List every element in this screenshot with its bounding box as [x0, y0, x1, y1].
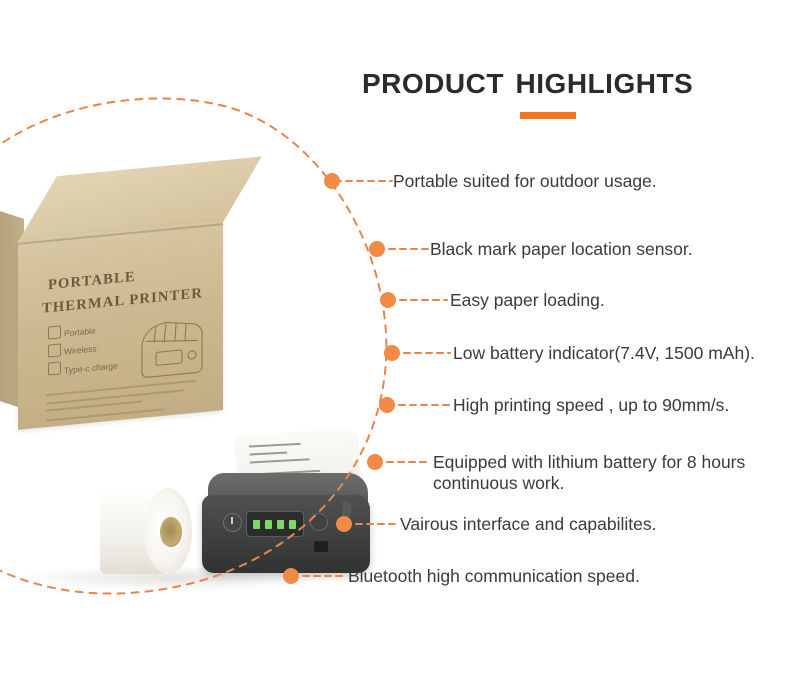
thermal-paper-roll	[100, 488, 192, 574]
title-block: Product Highlights	[362, 58, 782, 102]
portable-thermal-printer	[196, 433, 376, 583]
highlight-item-print-speed: High printing speed , up to 90mm/s.	[453, 395, 729, 416]
printer-line-art	[132, 309, 210, 387]
usb-c-port	[314, 541, 328, 552]
usb-c-icon	[48, 361, 61, 375]
product-photo: PORTABLE THERMAL PRINTER Portable Wirele…	[0, 95, 400, 565]
highlight-item-paper-loading: Easy paper loading.	[450, 290, 605, 311]
status-led-panel	[246, 511, 304, 537]
highlight-item-lithium-battery: Equipped with lithium battery for 8 hour…	[433, 452, 745, 494]
portable-icon	[48, 325, 61, 339]
title-accent-underline	[520, 112, 576, 119]
page-title: Product Highlights	[362, 58, 782, 102]
highlight-item-portable: Portable suited for outdoor usage.	[393, 171, 657, 192]
highlight-item-interfaces: Vairous interface and capabilites.	[400, 514, 657, 535]
highlight-item-black-mark: Black mark paper location sensor.	[430, 239, 693, 260]
wireless-icon	[48, 343, 61, 357]
paper-roll-core	[160, 517, 182, 547]
paper-feed-button[interactable]	[310, 513, 328, 531]
highlight-item-bluetooth: Bluetooth high communication speed.	[348, 566, 640, 587]
highlight-item-battery-indicator: Low battery indicator(7.4V, 1500 mAh).	[453, 343, 755, 364]
lid-latch[interactable]	[342, 501, 351, 517]
power-button-icon[interactable]	[223, 513, 242, 532]
product-highlights-slide: PORTABLE THERMAL PRINTER Portable Wirele…	[0, 0, 800, 700]
